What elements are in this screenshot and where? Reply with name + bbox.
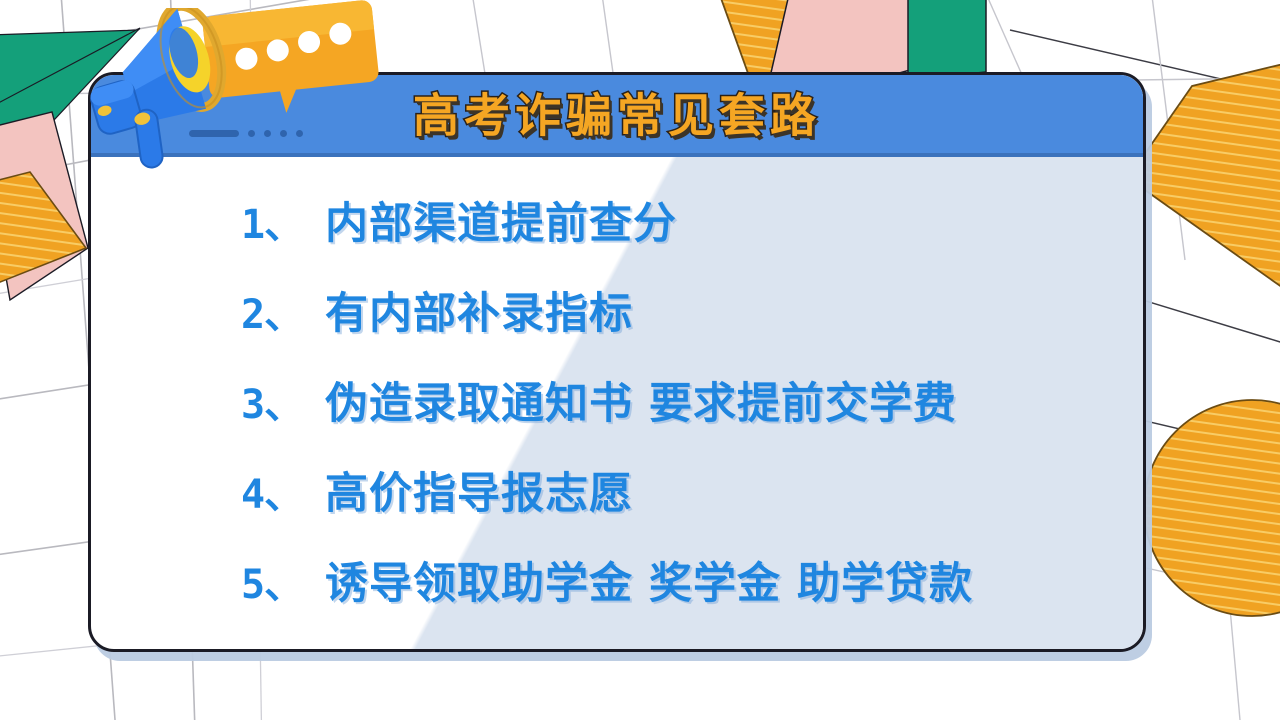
scam-list: 1、 内部渠道提前查分 2、 有内部补录指标 3、 伪造录取通知书 要求提前交学… xyxy=(91,171,1143,639)
list-item-number: 2、 xyxy=(241,282,325,340)
poster-canvas: 高考诈骗常见套路 1、 内部渠道提前查分 2、 有内部补录指标 3、 伪造录取通… xyxy=(0,0,1280,720)
list-item-text: 伪造录取通知书 要求提前交学费 xyxy=(325,369,957,431)
list-item-text: 有内部补录指标 xyxy=(325,279,633,341)
list-item-text: 内部渠道提前查分 xyxy=(325,189,677,251)
list-item: 3、 伪造录取通知书 要求提前交学费 xyxy=(241,369,1103,453)
list-item-number: 4、 xyxy=(241,462,325,520)
list-item-number: 1、 xyxy=(241,192,325,250)
list-item-number: 5、 xyxy=(241,552,325,610)
megaphone-icon xyxy=(78,8,248,178)
list-item: 1、 内部渠道提前查分 xyxy=(241,189,1103,273)
list-item: 5、 诱导领取助学金 奖学金 助学贷款 xyxy=(241,549,1103,633)
list-item-text: 诱导领取助学金 奖学金 助学贷款 xyxy=(325,549,973,611)
list-item-text: 高价指导报志愿 xyxy=(325,459,633,521)
striped-circle-bottom-right xyxy=(1144,400,1280,616)
list-item: 4、 高价指导报志愿 xyxy=(241,459,1103,543)
green-rect-top-right xyxy=(908,0,986,80)
list-item: 2、 有内部补录指标 xyxy=(241,279,1103,363)
striped-diamond-right xyxy=(1128,60,1280,300)
list-item-number: 3、 xyxy=(241,372,325,430)
